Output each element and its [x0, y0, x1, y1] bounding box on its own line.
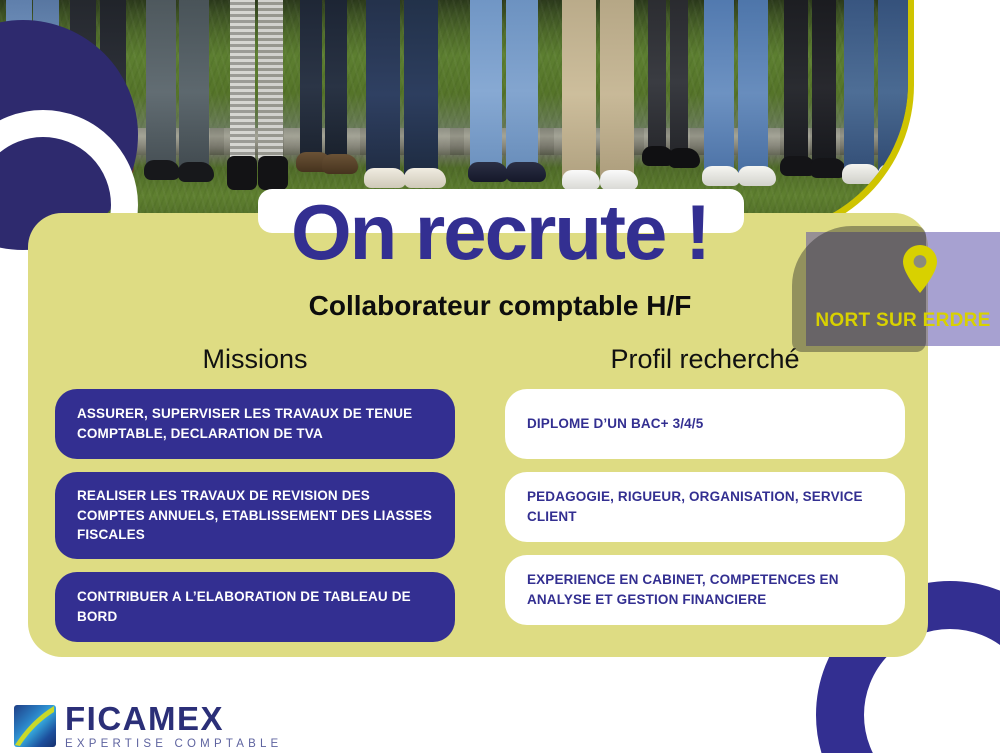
mission-card: ASSURER, SUPERVISER LES TRAVAUX DE TENUE…: [55, 389, 455, 459]
location-badge-label: NORT SUR ERDRE: [806, 310, 1000, 332]
company-logo: FICAMEX EXPERTISE COMPTABLE: [14, 702, 282, 751]
profil-card: PEDAGOGIE, RIGUEUR, ORGANISATION, SERVIC…: [505, 472, 905, 542]
profil-card: EXPERIENCE EN CABINET, COMPETENCES EN AN…: [505, 555, 905, 625]
logo-name: FICAMEX: [65, 702, 282, 735]
missions-heading: Missions: [55, 344, 455, 375]
profil-card: DIPLOME D’UN BAC+ 3/4/5: [505, 389, 905, 459]
logo-text: FICAMEX EXPERTISE COMPTABLE: [65, 702, 282, 751]
profil-column: Profil recherché DIPLOME D’UN BAC+ 3/4/5…: [505, 344, 905, 638]
logo-tagline: EXPERTISE COMPTABLE: [65, 739, 282, 751]
missions-column: Missions ASSURER, SUPERVISER LES TRAVAUX…: [55, 344, 455, 655]
ficamex-logo-icon: [14, 705, 56, 747]
map-pin-icon: [899, 245, 941, 293]
mission-card: REALISER LES TRAVAUX DE REVISION DES COM…: [55, 472, 455, 559]
mission-card: CONTRIBUER A L’ELABORATION DE TABLEAU DE…: [55, 572, 455, 642]
recruitment-poster: On recrute ! Collaborateur comptable H/F…: [0, 0, 1000, 753]
